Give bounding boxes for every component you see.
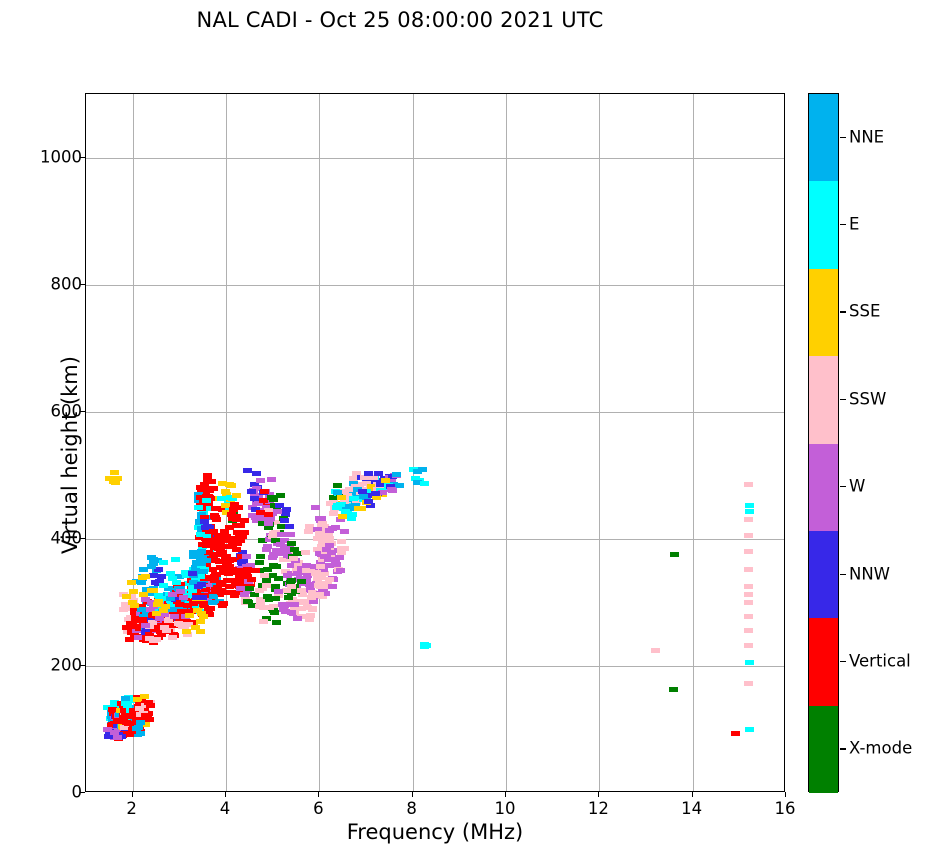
ionogram-echo-mark bbox=[202, 498, 211, 503]
ionogram-echo-mark bbox=[325, 528, 334, 533]
x-axis-tick bbox=[692, 792, 693, 797]
gridline-vertical bbox=[599, 94, 600, 791]
ionogram-echo-mark bbox=[240, 518, 249, 523]
ionogram-echo-mark bbox=[341, 509, 350, 514]
colorbar-label-nnw: NNW bbox=[849, 564, 890, 583]
ionogram-echo-mark bbox=[420, 642, 429, 647]
colorbar-band-x-mode[interactable] bbox=[809, 706, 838, 793]
y-axis-tick-label: 0 bbox=[72, 783, 83, 802]
gridline-horizontal bbox=[86, 666, 784, 667]
ionogram-echo-mark bbox=[179, 595, 188, 600]
ionogram-echo-mark bbox=[166, 596, 175, 601]
ionogram-echo-mark bbox=[252, 471, 261, 476]
x-axis-tick-label: 12 bbox=[588, 799, 609, 818]
ionogram-echo-mark bbox=[176, 589, 185, 594]
ionogram-echo-mark bbox=[147, 588, 156, 593]
ionogram-echo-mark bbox=[333, 483, 342, 488]
ionogram-echo-mark bbox=[392, 472, 401, 477]
ionogram-echo-mark bbox=[267, 477, 276, 482]
ionogram-echo-mark bbox=[315, 592, 324, 597]
ionogram-echo-mark bbox=[125, 637, 134, 642]
ionogram-echo-mark bbox=[282, 507, 291, 512]
ionogram-echo-mark bbox=[336, 568, 345, 573]
ionogram-echo-mark bbox=[304, 529, 313, 534]
colorbar-tick bbox=[840, 486, 846, 487]
ionogram-echo-mark bbox=[306, 613, 315, 618]
ionogram-echo-mark bbox=[420, 481, 429, 486]
ionogram-echo-mark bbox=[744, 614, 753, 619]
ionogram-echo-mark bbox=[145, 717, 154, 722]
ionogram-echo-mark bbox=[287, 578, 296, 583]
colorbar-band-ssw[interactable] bbox=[809, 356, 838, 443]
ionogram-echo-mark bbox=[256, 478, 265, 483]
ionogram-echo-mark bbox=[745, 727, 754, 732]
ionogram-echo-mark bbox=[137, 607, 146, 612]
ionogram-echo-mark bbox=[297, 579, 306, 584]
gridline-vertical bbox=[506, 94, 507, 791]
ionogram-echo-mark bbox=[104, 734, 113, 739]
ionogram-echo-mark bbox=[273, 509, 282, 514]
gridline-horizontal bbox=[86, 539, 784, 540]
colorbar-label-nne: NNE bbox=[849, 127, 884, 146]
ionogram-echo-mark bbox=[333, 490, 342, 495]
ionogram-echo-mark bbox=[260, 489, 269, 494]
ionogram-echo-mark bbox=[136, 731, 145, 736]
x-axis-tick-label: 4 bbox=[220, 799, 231, 818]
ionogram-echo-mark bbox=[286, 532, 295, 537]
ionogram-echo-mark bbox=[121, 701, 130, 706]
ionogram-echo-mark bbox=[267, 495, 276, 500]
y-axis-tick-label: 200 bbox=[51, 655, 83, 674]
ionogram-echo-mark bbox=[337, 539, 346, 544]
ionogram-echo-mark bbox=[255, 604, 264, 609]
ionogram-echo-mark bbox=[287, 584, 296, 589]
ionogram-echo-mark bbox=[250, 496, 259, 501]
ionogram-echo-mark bbox=[744, 628, 753, 633]
ionogram-echo-mark bbox=[289, 556, 298, 561]
y-axis-tick-label: 1000 bbox=[40, 147, 82, 166]
ionogram-echo-mark bbox=[147, 564, 156, 569]
ionogram-echo-mark bbox=[744, 482, 753, 487]
colorbar-tick bbox=[840, 311, 846, 312]
ionogram-echo-mark bbox=[194, 505, 203, 510]
colorbar-label-ssw: SSW bbox=[849, 389, 886, 408]
ionogram-echo-mark bbox=[221, 503, 230, 508]
ionogram-echo-mark bbox=[199, 569, 208, 574]
ionogram-echo-mark bbox=[311, 505, 320, 510]
ionogram-echo-mark bbox=[395, 483, 404, 488]
ionogram-echo-mark bbox=[197, 561, 206, 566]
ionogram-echo-mark bbox=[121, 696, 130, 701]
ionogram-echo-mark bbox=[155, 616, 164, 621]
x-axis-tick-label: 6 bbox=[313, 799, 324, 818]
ionogram-echo-mark bbox=[171, 557, 180, 562]
ionogram-echo-mark bbox=[134, 725, 143, 730]
gridline-horizontal bbox=[86, 285, 784, 286]
colorbar-band-w[interactable] bbox=[809, 444, 838, 531]
ionogram-echo-mark bbox=[669, 687, 678, 692]
ionogram-echo-mark bbox=[221, 489, 230, 494]
x-axis-tick-label: 16 bbox=[775, 799, 796, 818]
x-axis-tick bbox=[785, 792, 786, 797]
ionogram-echo-mark bbox=[196, 574, 205, 579]
colorbar-tick bbox=[840, 574, 846, 575]
ionogram-echo-mark bbox=[372, 495, 381, 500]
ionogram-echo-mark bbox=[242, 569, 251, 574]
gridline-vertical bbox=[413, 94, 414, 791]
ionogram-echo-mark bbox=[174, 621, 183, 626]
ionogram-echo-mark bbox=[242, 554, 251, 559]
ionogram-echo-mark bbox=[260, 573, 269, 578]
ionogram-echo-mark bbox=[276, 493, 285, 498]
ionogram-echo-mark bbox=[139, 592, 148, 597]
ionogram-echo-mark bbox=[272, 620, 281, 625]
ionogram-echo-mark bbox=[223, 538, 232, 543]
ionogram-echo-mark bbox=[325, 536, 334, 541]
colorbar-tick bbox=[840, 748, 846, 749]
ionogram-echo-mark bbox=[122, 594, 131, 599]
gridline-vertical bbox=[226, 94, 227, 791]
ionogram-echo-mark bbox=[225, 590, 234, 595]
page-title: NAL CADI - Oct 25 08:00:00 2021 UTC bbox=[0, 8, 800, 32]
x-axis-tick bbox=[225, 792, 226, 797]
gridline-horizontal bbox=[86, 158, 784, 159]
ionogram-echo-mark bbox=[232, 547, 241, 552]
colorbar-band-nnw[interactable] bbox=[809, 531, 838, 618]
ionogram-echo-mark bbox=[219, 601, 228, 606]
ionogram-echo-mark bbox=[196, 629, 205, 634]
ionogram-echo-mark bbox=[280, 518, 289, 523]
colorbar-band-sse[interactable] bbox=[809, 269, 838, 356]
ionogram-echo-mark bbox=[198, 595, 207, 600]
ionogram-echo-mark bbox=[236, 523, 245, 528]
ionogram-echo-mark bbox=[264, 521, 273, 526]
ionogram-echo-mark bbox=[188, 571, 197, 576]
ionogram-echo-mark bbox=[328, 584, 337, 589]
ionogram-echo-mark bbox=[305, 617, 314, 622]
x-axis-tick bbox=[412, 792, 413, 797]
ionogram-echo-mark bbox=[263, 544, 272, 549]
ionogram-echo-mark bbox=[651, 648, 660, 653]
colorbar-tick bbox=[840, 661, 846, 662]
ionogram-echo-mark bbox=[340, 529, 349, 534]
ionogram-echo-mark bbox=[189, 554, 198, 559]
ionogram-echo-mark bbox=[259, 619, 268, 624]
x-axis-tick-label: 10 bbox=[495, 799, 516, 818]
ionogram-echo-mark bbox=[225, 482, 234, 487]
y-axis-tick-label: 400 bbox=[51, 528, 83, 547]
ionogram-echo-mark bbox=[161, 604, 170, 609]
ionogram-echo-mark bbox=[312, 570, 321, 575]
ionogram-echo-mark bbox=[168, 635, 177, 640]
colorbar-label-w: W bbox=[849, 477, 865, 496]
ionogram-echo-mark bbox=[149, 638, 158, 643]
ionogram-echo-mark bbox=[149, 557, 158, 562]
ionogram-echo-mark bbox=[144, 700, 153, 705]
ionogram-echo-mark bbox=[256, 554, 265, 559]
colorbar-label-e: E bbox=[849, 215, 859, 234]
ionogram-echo-mark bbox=[203, 473, 212, 478]
ionogram-echo-mark bbox=[238, 534, 247, 539]
ionogram-echo-mark bbox=[196, 532, 205, 537]
ionogram-echo-mark bbox=[243, 599, 252, 604]
ionogram-echo-mark bbox=[111, 480, 120, 485]
ionogram-echo-mark bbox=[255, 588, 264, 593]
ionogram-echo-mark bbox=[265, 605, 274, 610]
ionogram-echo-mark bbox=[272, 564, 281, 569]
ionogram-echo-mark bbox=[360, 475, 369, 480]
ionogram-echo-mark bbox=[336, 502, 345, 507]
ionogram-echo-mark bbox=[413, 469, 422, 474]
x-axis-tick bbox=[505, 792, 506, 797]
ionogram-echo-mark bbox=[129, 589, 138, 594]
gridline-vertical bbox=[319, 94, 320, 791]
gridline-vertical bbox=[133, 94, 134, 791]
ionogram-echo-mark bbox=[175, 602, 184, 607]
ionogram-echo-mark bbox=[364, 471, 373, 476]
ionogram-echo-mark bbox=[159, 560, 168, 565]
ionogram-echo-mark bbox=[160, 625, 169, 630]
ionogram-echo-mark bbox=[138, 617, 147, 622]
ionogram-echo-mark bbox=[670, 552, 679, 557]
ionogram-echo-mark bbox=[138, 575, 147, 580]
ionogram-echo-mark bbox=[274, 589, 283, 594]
ionogram-echo-mark bbox=[127, 580, 136, 585]
ionogram-echo-mark bbox=[196, 619, 205, 624]
colorbar-band-nne[interactable] bbox=[809, 94, 838, 181]
ionogram-echo-mark bbox=[744, 549, 753, 554]
ionogram-echo-mark bbox=[197, 582, 206, 587]
ionogram-echo-mark bbox=[110, 470, 119, 475]
ionogram-echo-mark bbox=[207, 479, 216, 484]
colorbar-tick bbox=[840, 399, 846, 400]
ionogram-echo-mark bbox=[140, 694, 149, 699]
ionogram-echo-mark bbox=[744, 600, 753, 605]
ionogram-echo-mark bbox=[744, 584, 753, 589]
ionogram-echo-mark bbox=[211, 558, 220, 563]
ionogram-echo-mark bbox=[744, 681, 753, 686]
ionogram-echo-mark bbox=[209, 594, 218, 599]
x-axis-tick-label: 14 bbox=[681, 799, 702, 818]
x-axis-tick bbox=[132, 792, 133, 797]
ionogram-echo-mark bbox=[301, 550, 310, 555]
ionogram-echo-mark bbox=[745, 660, 754, 665]
ionogram-echo-mark bbox=[287, 610, 296, 615]
y-axis-tick-label: 600 bbox=[51, 401, 83, 420]
x-axis-tick-label: 8 bbox=[406, 799, 417, 818]
x-axis-tick bbox=[598, 792, 599, 797]
ionogram-echo-mark bbox=[255, 560, 264, 565]
ionogram-echo-mark bbox=[243, 468, 252, 473]
ionogram-plot-area[interactable] bbox=[85, 93, 785, 792]
x-axis-label: Frequency (MHz) bbox=[85, 820, 785, 844]
ionogram-echo-mark bbox=[159, 583, 168, 588]
ionogram-echo-mark bbox=[154, 593, 163, 598]
ionogram-echo-mark bbox=[154, 599, 163, 604]
ionogram-echo-mark bbox=[284, 602, 293, 607]
ionogram-echo-mark bbox=[217, 496, 226, 501]
ionogram-echo-mark bbox=[731, 731, 740, 736]
colorbar-label-x-mode: X-mode bbox=[849, 739, 912, 758]
ionogram-echo-mark bbox=[103, 727, 112, 732]
ionogram-echo-mark bbox=[303, 605, 312, 610]
y-axis-tick-label: 800 bbox=[51, 274, 83, 293]
y-axis-label: Virtual height (km) bbox=[58, 255, 82, 655]
ionogram-echo-mark bbox=[285, 524, 294, 529]
ionogram-echo-mark bbox=[381, 478, 390, 483]
ionogram-echo-mark bbox=[208, 600, 217, 605]
ionogram-echo-mark bbox=[168, 592, 177, 597]
x-axis-tick-label: 2 bbox=[126, 799, 137, 818]
ionogram-echo-mark bbox=[364, 499, 373, 504]
colorbar-band-vertical[interactable] bbox=[809, 618, 838, 705]
ionogram-echo-mark bbox=[744, 567, 753, 572]
ionogram-echo-mark bbox=[245, 586, 254, 591]
ionogram-echo-mark bbox=[209, 529, 218, 534]
ionogram-echo-mark bbox=[247, 489, 256, 494]
ionogram-echo-mark bbox=[200, 519, 209, 524]
ionogram-echo-mark bbox=[268, 555, 277, 560]
ionogram-echo-mark bbox=[196, 485, 205, 490]
ionogram-echo-mark bbox=[216, 547, 225, 552]
colorbar-label-sse: SSE bbox=[849, 302, 880, 321]
ionogram-echo-mark bbox=[337, 495, 346, 500]
colorbar-tick bbox=[840, 224, 846, 225]
ionogram-echo-mark bbox=[193, 608, 202, 613]
ionogram-echo-mark bbox=[168, 576, 177, 581]
ionogram-echo-mark bbox=[274, 576, 283, 581]
ionogram-echo-mark bbox=[210, 578, 219, 583]
ionogram-echo-mark bbox=[293, 616, 302, 621]
ionogram-echo-mark bbox=[210, 513, 219, 518]
ionogram-echo-mark bbox=[220, 529, 229, 534]
ionogram-echo-mark bbox=[124, 721, 133, 726]
ionogram-echo-mark bbox=[745, 503, 754, 508]
ionogram-echo-mark bbox=[335, 555, 344, 560]
ionogram-echo-mark bbox=[211, 587, 220, 592]
ionogram-echo-mark bbox=[387, 487, 396, 492]
ionogram-echo-mark bbox=[374, 471, 383, 476]
ionogram-echo-mark bbox=[284, 595, 293, 600]
ionogram-echo-mark bbox=[232, 493, 241, 498]
ionogram-echo-mark bbox=[325, 577, 334, 582]
ionogram-echo-mark bbox=[199, 614, 208, 619]
ionogram-echo-mark bbox=[170, 614, 179, 619]
ionogram-echo-mark bbox=[130, 624, 139, 629]
ionogram-echo-mark bbox=[315, 581, 324, 586]
ionogram-echo-mark bbox=[287, 541, 296, 546]
ionogram-echo-mark bbox=[744, 592, 753, 597]
ionogram-echo-mark bbox=[337, 546, 346, 551]
gridline-vertical bbox=[693, 94, 694, 791]
ionogram-echo-mark bbox=[135, 706, 144, 711]
ionogram-echo-mark bbox=[744, 643, 753, 648]
ionogram-echo-mark bbox=[185, 613, 194, 618]
ionogram-echo-mark bbox=[318, 521, 327, 526]
x-axis-tick bbox=[318, 792, 319, 797]
ionogram-echo-mark bbox=[225, 564, 234, 569]
ionogram-echo-mark bbox=[247, 577, 256, 582]
ionogram-echo-mark bbox=[293, 571, 302, 576]
ionogram-echo-mark bbox=[744, 517, 753, 522]
colorbar-label-vertical: Vertical bbox=[849, 651, 911, 670]
azimuth-colorbar[interactable] bbox=[808, 93, 839, 792]
ionogram-echo-mark bbox=[371, 491, 380, 496]
ionogram-echo-mark bbox=[263, 567, 272, 572]
ionogram-echo-mark bbox=[234, 505, 243, 510]
ionogram-echo-mark bbox=[745, 509, 754, 514]
ionogram-echo-mark bbox=[349, 496, 358, 501]
colorbar-tick bbox=[840, 137, 846, 138]
ionogram-echo-mark bbox=[744, 533, 753, 538]
ionogram-echo-mark bbox=[119, 607, 128, 612]
ionogram-echo-mark bbox=[263, 594, 272, 599]
ionogram-echo-mark bbox=[329, 511, 338, 516]
ionogram-echo-mark bbox=[141, 623, 150, 628]
ionogram-echo-mark bbox=[264, 512, 273, 517]
ionogram-echo-mark bbox=[338, 514, 347, 519]
ionogram-echo-mark bbox=[182, 629, 191, 634]
colorbar-band-e[interactable] bbox=[809, 181, 838, 268]
ionogram-echo-mark bbox=[210, 574, 219, 579]
ionogram-echo-mark bbox=[157, 574, 166, 579]
ionogram-echo-mark bbox=[128, 600, 137, 605]
ionogram-echo-mark bbox=[297, 588, 306, 593]
ionogram-echo-mark bbox=[113, 735, 122, 740]
ionogram-echo-mark bbox=[205, 488, 214, 493]
gridline-horizontal bbox=[86, 412, 784, 413]
ionogram-echo-mark bbox=[354, 506, 363, 511]
